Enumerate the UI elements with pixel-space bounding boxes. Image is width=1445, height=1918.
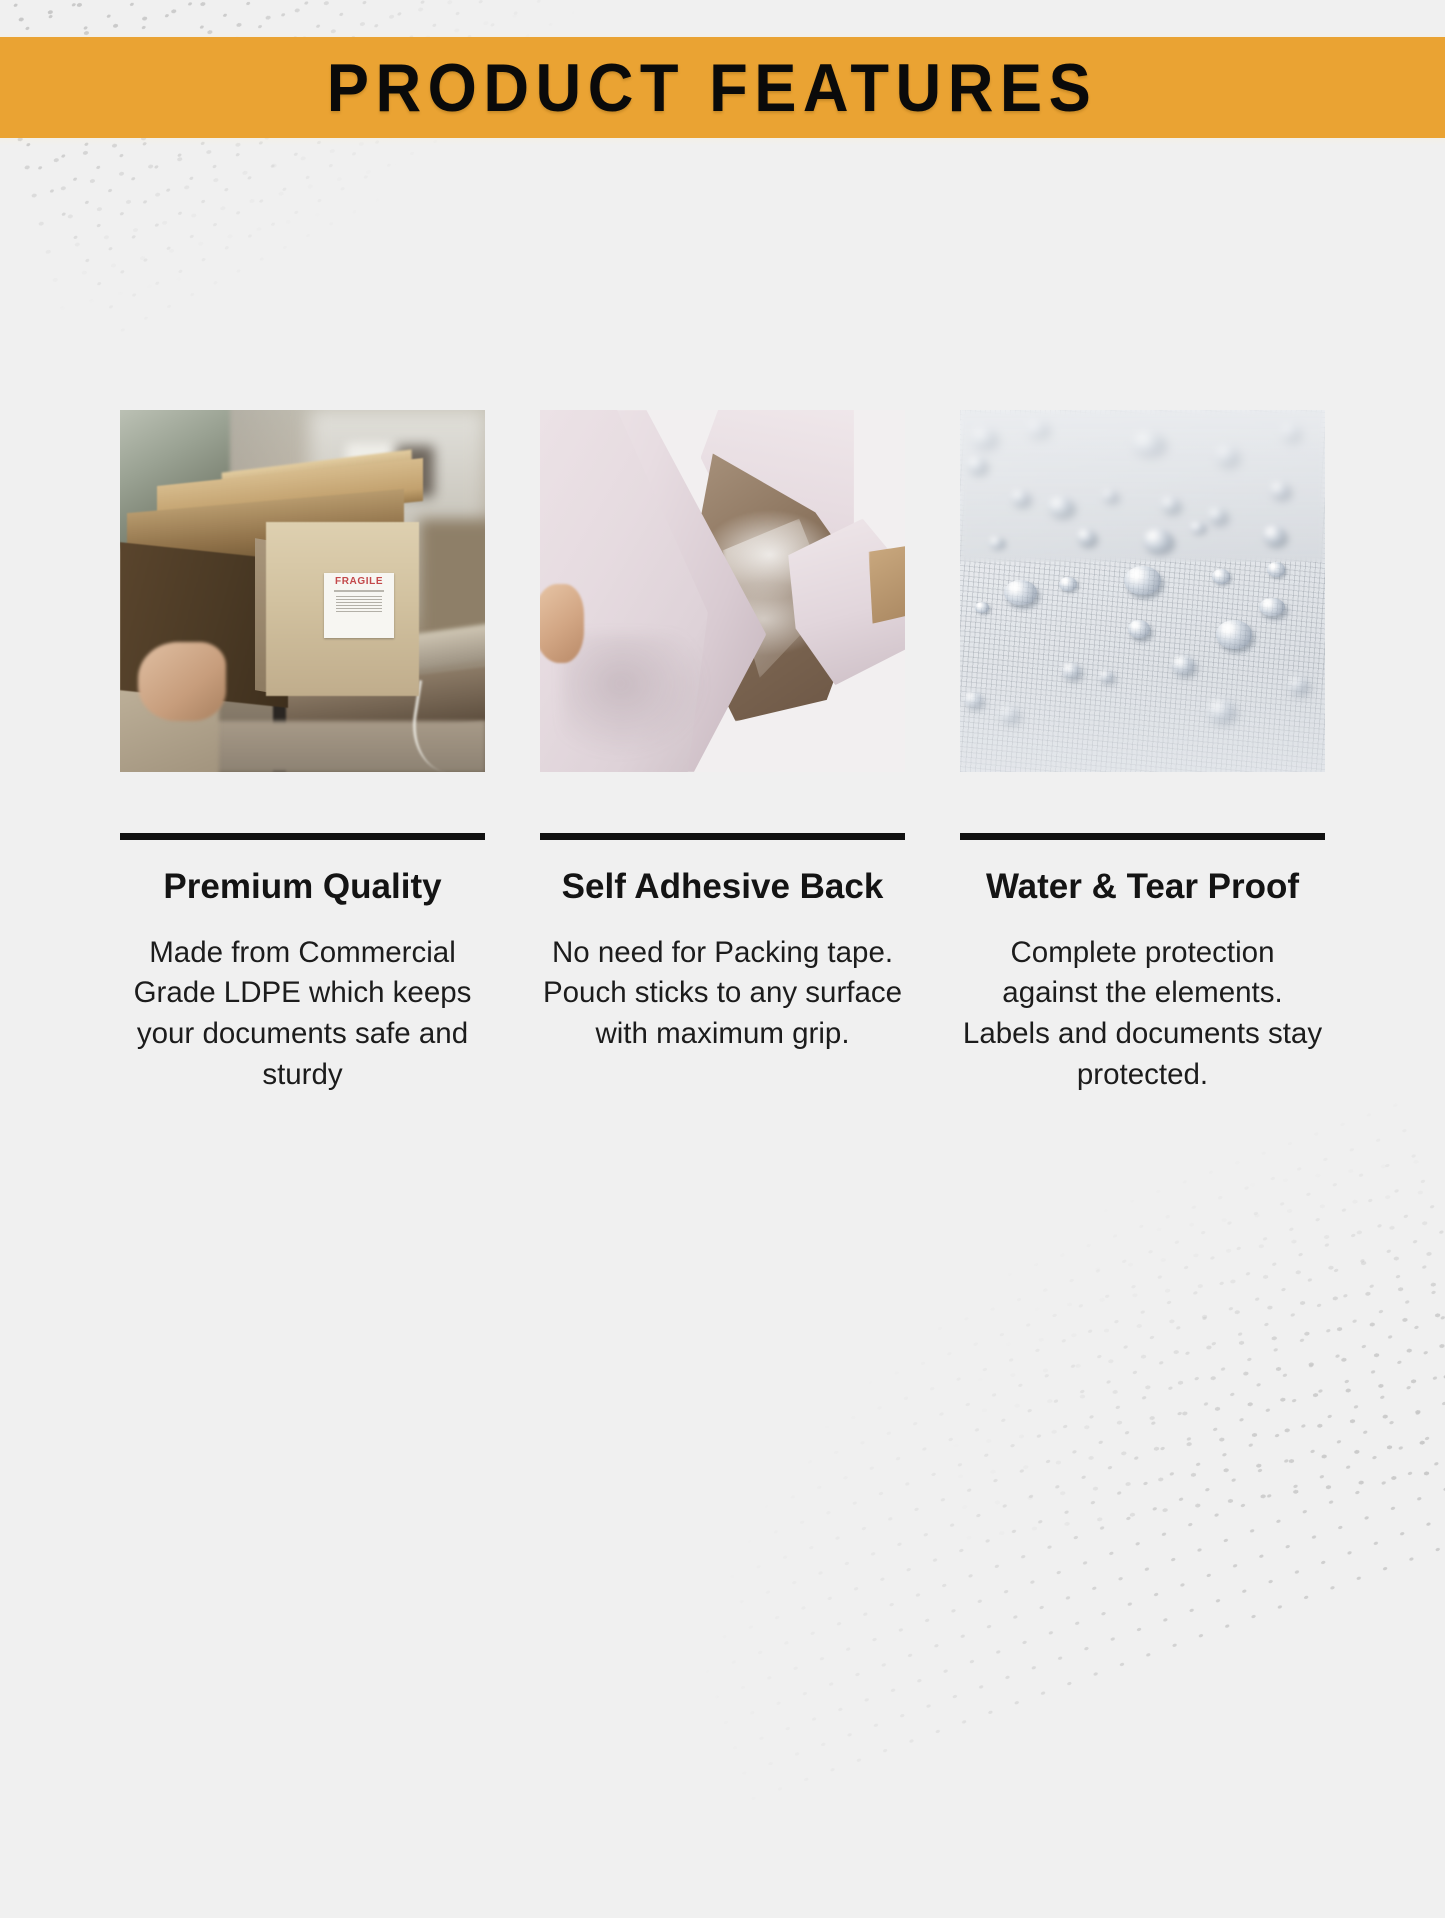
feature-card-premium-quality: FRAGILE Premium Quality Made from Commer… (120, 410, 485, 1095)
water-droplet (1004, 580, 1037, 605)
photo-background-box (419, 519, 485, 642)
decorative-dot-pattern-bottom-right-2 (637, 1079, 1445, 1589)
decorative-dot-pattern-bottom-right (307, 1036, 1445, 1918)
feature-body-self-adhesive-back: No need for Packing tape. Pouch sticks t… (540, 933, 905, 1055)
feature-title-premium-quality: Premium Quality (120, 868, 485, 907)
water-droplet (1124, 566, 1161, 595)
label-fine-print (336, 596, 382, 612)
water-droplet (975, 602, 990, 613)
fragile-shipping-label: FRAGILE (324, 573, 393, 638)
feature-card-self-adhesive-back: Self Adhesive Back No need for Packing t… (540, 410, 905, 1095)
feature-body-water-tear-proof: Complete protection against the elements… (960, 933, 1325, 1096)
photo-finger (540, 584, 584, 664)
feature-card-water-tear-proof: Water & Tear Proof Complete protection a… (960, 410, 1325, 1095)
feature-divider-rule (960, 833, 1325, 840)
feature-divider-rule (540, 833, 905, 840)
photo-sheet-right-tip (869, 544, 906, 624)
fragile-label-text: FRAGILE (335, 576, 383, 587)
photo-depth-blur-top (960, 410, 1325, 562)
banner-bar: PRODUCT FEATURES (0, 37, 1445, 138)
feature-title-self-adhesive-back: Self Adhesive Back (540, 868, 905, 907)
feature-image-water-tear-proof (960, 410, 1325, 772)
water-droplet (1059, 577, 1077, 591)
photo-worker-hand (138, 642, 226, 722)
water-droplet (1267, 562, 1285, 576)
feature-body-premium-quality: Made from Commercial Grade LDPE which ke… (120, 933, 485, 1096)
photo-depth-blur-bottom (960, 663, 1325, 772)
water-droplet (1128, 620, 1150, 638)
water-droplet (1216, 620, 1253, 649)
feature-image-self-adhesive-back (540, 410, 905, 772)
feature-list: FRAGILE Premium Quality Made from Commer… (120, 410, 1325, 1095)
header-banner: PRODUCT FEATURES (0, 30, 1445, 146)
page-title: PRODUCT FEATURES (327, 54, 1118, 122)
feature-title-water-tear-proof: Water & Tear Proof (960, 868, 1325, 907)
feature-divider-rule (120, 833, 485, 840)
water-droplet (1212, 569, 1230, 583)
photo-sheet-shadow (562, 634, 708, 757)
feature-image-premium-quality: FRAGILE (120, 410, 485, 772)
label-divider (334, 590, 384, 592)
